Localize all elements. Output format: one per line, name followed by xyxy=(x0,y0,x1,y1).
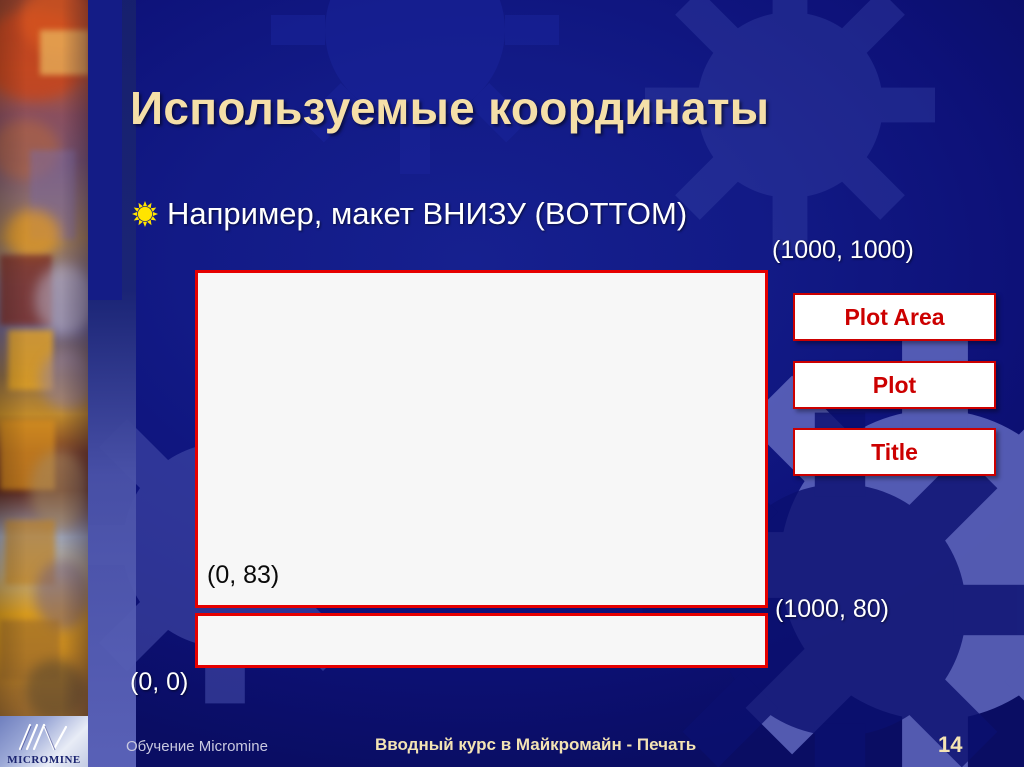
plot-area-rectangle xyxy=(195,270,768,608)
sidebar-blue-wedge-upper xyxy=(88,0,122,300)
footer-left-text: Обучение Micromine xyxy=(126,738,268,755)
coordinate-label-bottom-left: (0, 0) xyxy=(130,668,188,697)
legend-box-plot: Plot xyxy=(793,361,996,409)
footer-center-text: Вводный курс в Майкромайн - Печать xyxy=(375,735,696,755)
micromine-wordmark: MICROMINE xyxy=(0,754,88,766)
coordinate-label-top-right: (1000, 1000) xyxy=(772,236,914,265)
footer-page-number: 14 xyxy=(938,732,962,758)
legend-box-plot-area: Plot Area xyxy=(793,293,996,341)
presentation-slide: Используемые координаты xyxy=(0,0,1024,767)
bullet-text: Например, макет ВНИЗУ (BOTTOM) xyxy=(167,196,687,232)
coordinate-label-inside-left: (0, 83) xyxy=(207,561,279,590)
sun-bullet-icon xyxy=(132,201,158,227)
micromine-m-mark-icon xyxy=(14,719,74,753)
coordinate-label-bottom-right: (1000, 80) xyxy=(775,595,889,624)
legend-box-title: Title xyxy=(793,428,996,476)
micromine-logo: MICROMINE xyxy=(0,716,88,767)
slide-title: Используемые координаты xyxy=(130,83,990,134)
decorative-texture-strip xyxy=(0,0,88,767)
bullet-item: Например, макет ВНИЗУ (BOTTOM) xyxy=(132,196,687,232)
title-strip-rectangle xyxy=(195,613,768,668)
